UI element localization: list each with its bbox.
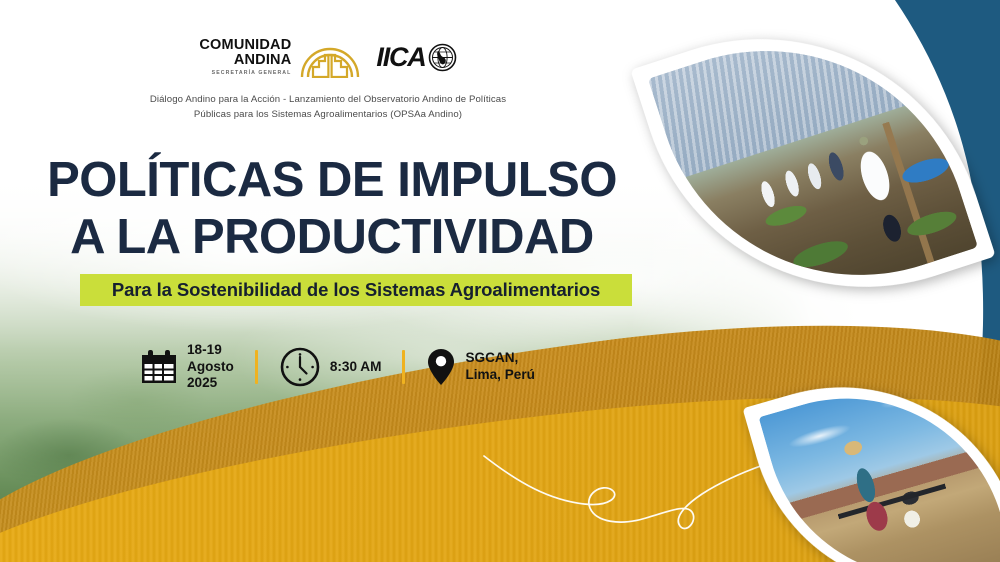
comunidad-andina-line1: COMUNIDAD xyxy=(199,38,291,53)
event-location-line2: Lima, Perú xyxy=(465,367,535,384)
clock-icon xyxy=(279,346,321,388)
event-date-line3: 2025 xyxy=(187,375,234,392)
event-date-line1: 18-19 xyxy=(187,342,234,359)
event-details-row: 18-19 Agosto 2025 8:30 AM xyxy=(140,342,535,392)
title-line-1: POLÍTICAS DE IMPULSO xyxy=(0,152,664,209)
event-location-line1: SGCAN, xyxy=(465,350,535,367)
globe-emblem xyxy=(428,43,457,72)
logo-row: COMUNIDAD ANDINA SECRETARÍA GENERAL IICA xyxy=(0,36,656,78)
page-title: POLÍTICAS DE IMPULSO A LA PRODUCTIVIDAD xyxy=(0,152,664,266)
calendar-icon xyxy=(140,348,178,386)
comunidad-andina-line3: SECRETARÍA GENERAL xyxy=(212,71,292,76)
details-divider-2 xyxy=(402,350,405,384)
eyebrow-line-1: Diálogo Andino para la Acción - Lanzamie… xyxy=(0,92,656,107)
event-date-text: 18-19 Agosto 2025 xyxy=(187,342,234,392)
comunidad-andina-line2: ANDINA xyxy=(234,53,292,68)
event-date-item: 18-19 Agosto 2025 xyxy=(140,342,234,392)
event-location-text: SGCAN, Lima, Perú xyxy=(465,350,535,383)
location-pin-icon xyxy=(426,347,456,387)
comunidad-andina-logo: COMUNIDAD ANDINA SECRETARÍA GENERAL xyxy=(199,36,360,78)
title-line-2: A LA PRODUCTIVIDAD xyxy=(0,209,664,266)
event-location-item: SGCAN, Lima, Perú xyxy=(426,347,535,387)
andean-arch-emblem xyxy=(300,36,360,78)
details-divider-1 xyxy=(255,350,258,384)
event-date-line2: Agosto xyxy=(187,359,234,376)
eyebrow-line-2: Públicas para los Sistemas Agroalimentar… xyxy=(0,107,656,122)
subtitle-banner: Para la Sostenibilidad de los Sistemas A… xyxy=(80,274,632,306)
iica-wordmark: IICA xyxy=(376,42,425,73)
subtitle-text: Para la Sostenibilidad de los Sistemas A… xyxy=(112,279,600,301)
event-poster: COMUNIDAD ANDINA SECRETARÍA GENERAL IICA xyxy=(0,0,1000,562)
event-time-text: 8:30 AM xyxy=(330,359,382,376)
event-subtitle-line: Diálogo Andino para la Acción - Lanzamie… xyxy=(0,92,656,122)
iica-logo: IICA xyxy=(376,42,456,73)
event-time-item: 8:30 AM xyxy=(279,346,382,388)
event-time-line1: 8:30 AM xyxy=(330,359,382,376)
